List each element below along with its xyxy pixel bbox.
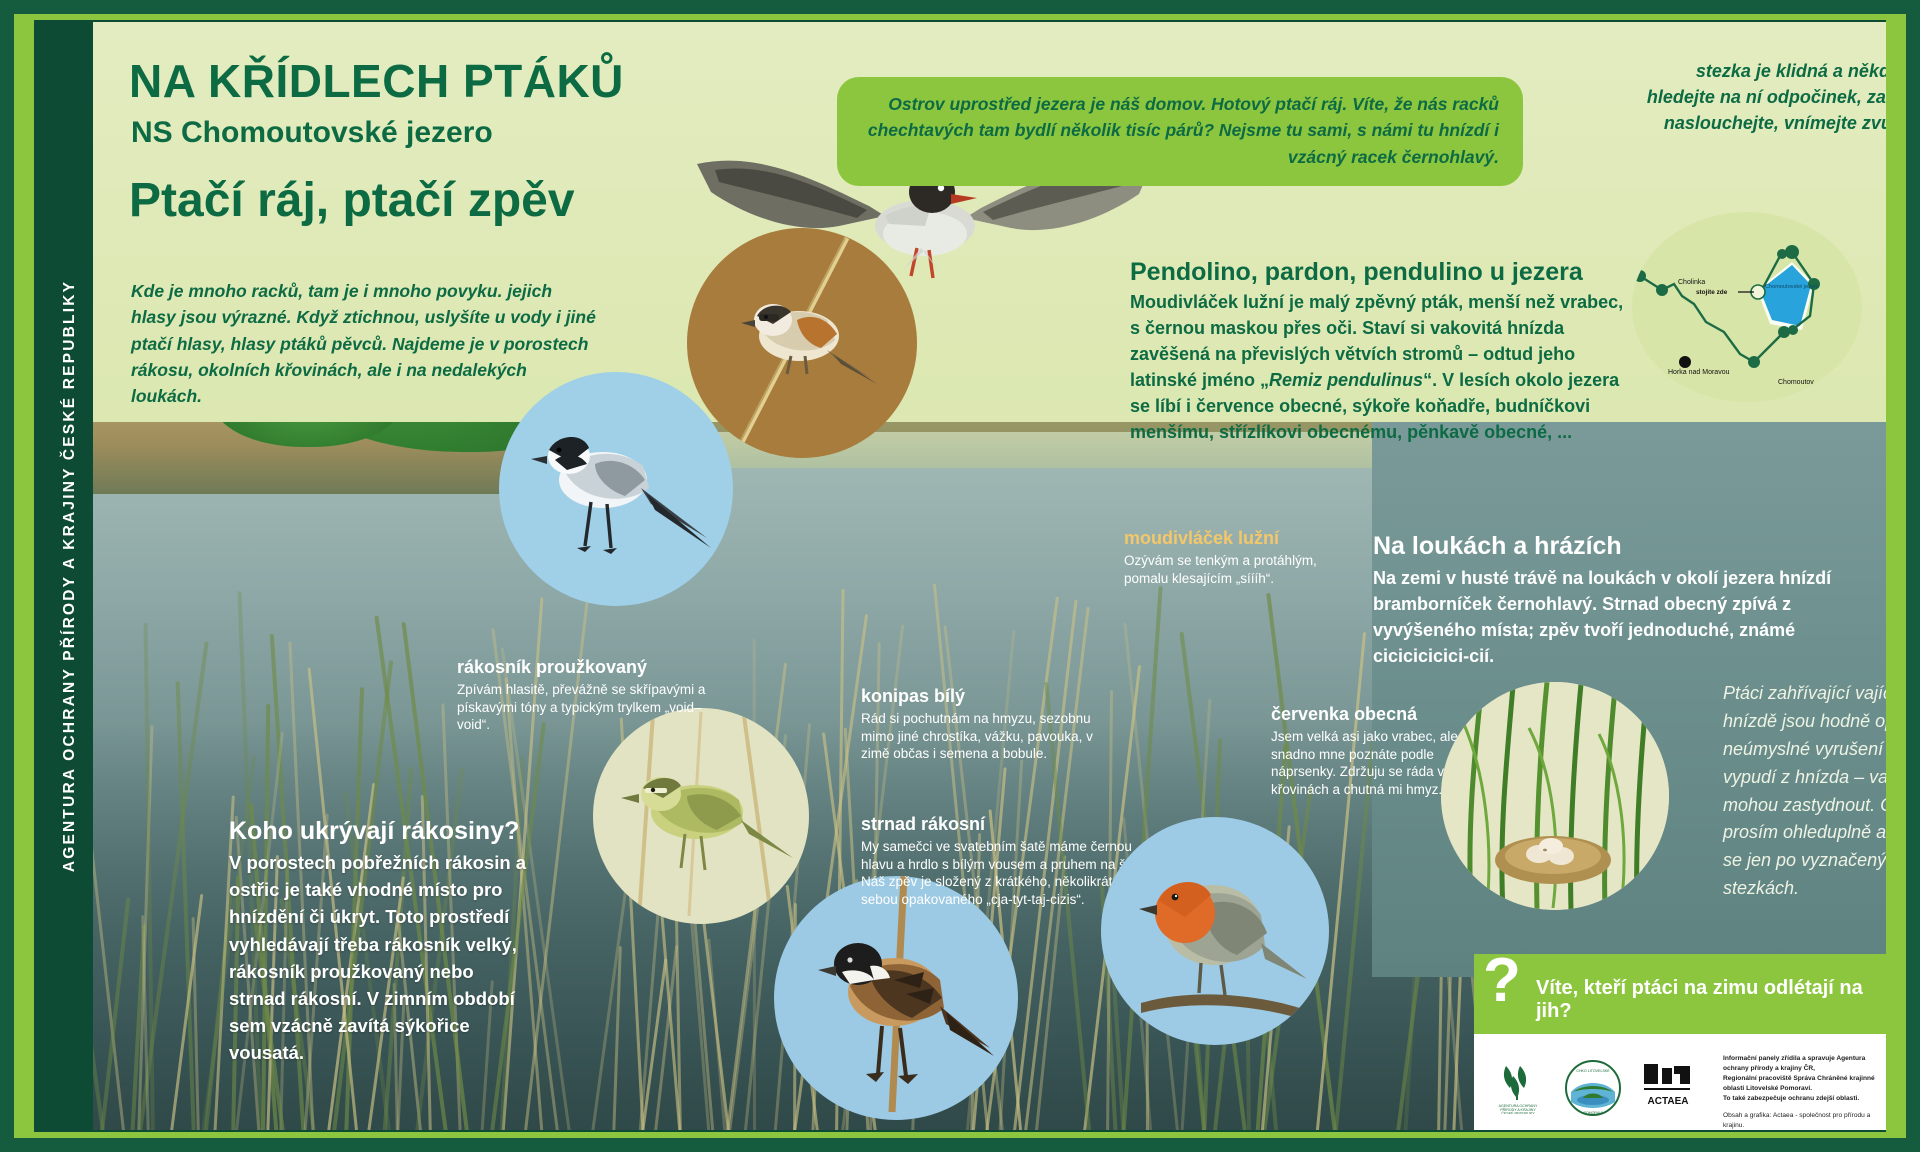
bird-caption-rakosnik-prouzkovany: rákosník proužkovaný Zpívám hlasitě, pře… xyxy=(457,656,707,734)
footer-credits: Informační panely zřídila a spravuje Age… xyxy=(1723,1054,1879,1130)
actaea-logo: ACTAEA xyxy=(1640,1060,1698,1116)
bird-photo-strnad-rakosni xyxy=(774,876,1018,1120)
bird-text-konipas-bily: Rád si pochutnám na hmyzu, sezobnu mimo … xyxy=(861,710,1111,763)
meadows-body: Na zemi v husté trávě na loukách v okolí… xyxy=(1373,565,1873,669)
trail-map: Cholinka Horka nad Moravou Chomoutov Cho… xyxy=(1632,212,1862,402)
nest-photo xyxy=(1441,682,1669,910)
bird-caption-konipas-bily: konipas bílý Rád si pochutnám na hmyzu, … xyxy=(861,685,1111,763)
section-title-bird-paradise: Ptačí ráj, ptačí zpěv xyxy=(129,177,575,225)
care-note-text: Ptáci zahřívající vajíčka na hnízdě jsou… xyxy=(1723,680,1886,903)
bird-text-rakosnik-prouzkovany: Zpívám hlasitě, převážně se skřípavými a… xyxy=(457,681,707,734)
bird-name-strnad-rakosni: strnad rákosní xyxy=(861,813,1161,836)
trail-map-circle: Cholinka Horka nad Moravou Chomoutov Cho… xyxy=(1632,212,1862,402)
svg-text:stojíte zde: stojíte zde xyxy=(1696,289,1728,296)
question-mark-icon: ? xyxy=(1483,950,1521,1012)
bird-photo-rakosnik-prouzkovany xyxy=(593,708,809,924)
section-title-pendolino: Pendolino, pardon, pendulino u jezera xyxy=(1130,258,1583,287)
bird-photo-cervenka-obecna xyxy=(1101,817,1329,1045)
map-label-lake: Chomoutovské jezero xyxy=(1765,284,1819,290)
information-panel: AGENTURA OCHRANY PŘÍRODY A KRAJINY ČESKÉ… xyxy=(0,0,1920,1152)
bird-name-moudivlacek-luzni: moudivláček lužní xyxy=(1124,527,1354,550)
svg-text:ČESKÉ REPUBLIKY: ČESKÉ REPUBLIKY xyxy=(1501,1111,1535,1114)
page-title: NA KŘÍDLECH PTÁKŮ xyxy=(129,58,624,104)
cervenka-illustration xyxy=(1101,817,1329,1045)
nest-illustration xyxy=(1441,682,1669,910)
bird-text-moudivlacek-luzni: Ozývám se tenkým a protáhlým, pomalu kle… xyxy=(1124,552,1354,587)
bird-photo-konipas-bily xyxy=(499,372,733,606)
agency-vertical-strip: AGENTURA OCHRANY PŘÍRODY A KRAJINY ČESKÉ… xyxy=(47,22,93,1130)
bird-photo-moudivlacek-luzni xyxy=(687,228,917,458)
rakosnik-illustration xyxy=(593,708,809,924)
konipas-illustration xyxy=(499,372,733,606)
credits-line-2: Regionální pracoviště Správa Chráněné kr… xyxy=(1723,1074,1879,1094)
map-label-chomoutov: Chomoutov xyxy=(1778,379,1814,386)
trail-map-svg: Cholinka Horka nad Moravou Chomoutov Cho… xyxy=(1632,212,1862,402)
map-label-horka: Horka nad Moravou xyxy=(1668,369,1730,376)
panel-canvas: NA KŘÍDLECH PTÁKŮ NS Chomoutovské jezero… xyxy=(93,22,1886,1130)
moudivlacek-illustration xyxy=(687,228,917,458)
trail-note-text: stezka je klidná a někdy tajemná, hledej… xyxy=(1633,58,1886,162)
bird-caption-moudivlacek-luzni: moudivláček lužní Ozývám se tenkým a pro… xyxy=(1124,527,1354,587)
svg-text:CHKO LITOVELSKÉ: CHKO LITOVELSKÉ xyxy=(1576,1068,1610,1073)
aopk-logo: AGENTURA OCHRANY PŘÍRODY A KRAJINY ČESKÉ… xyxy=(1490,1062,1546,1114)
chko-litovelske-pomoravi-logo: CHKO LITOVELSKÉ POMORAVÍ xyxy=(1563,1058,1623,1118)
agency-vertical-text: AGENTURA OCHRANY PŘÍRODY A KRAJINY ČESKÉ… xyxy=(61,280,79,872)
reeds-body: V porostech pobřežních rákosin a ostřic … xyxy=(229,849,529,1067)
credits-line-1: Informační panely zřídila a spravuje Age… xyxy=(1723,1054,1879,1074)
strnad-illustration xyxy=(774,876,1018,1120)
credits-line-4: Obsah a grafika: Actaea - společnost pro… xyxy=(1723,1111,1879,1130)
gull-speech-bubble: Ostrov uprostřed jezera je náš domov. Ho… xyxy=(837,77,1523,186)
page-subtitle: NS Chomoutovské jezero xyxy=(131,118,493,148)
section-title-meadows: Na loukách a hrázích xyxy=(1373,532,1873,561)
svg-text:POMORAVÍ: POMORAVÍ xyxy=(1583,1111,1602,1115)
pendolino-latin-name: Remiz pendulinus xyxy=(1269,370,1423,390)
bird-name-rakosnik-prouzkovany: rákosník proužkovaný xyxy=(457,656,707,679)
intro-paragraph: Kde je mnoho racků, tam je i mnoho povyk… xyxy=(131,278,601,409)
svg-text:ACTAEA: ACTAEA xyxy=(1648,1096,1689,1107)
question-text: Víte, kteří ptáci na zimu odlétají na ji… xyxy=(1536,977,1886,1023)
bird-name-konipas-bily: konipas bílý xyxy=(861,685,1111,708)
credits-gap xyxy=(1723,1104,1879,1111)
credits-line-3: To také zabezpečuje ochranu zdejší oblas… xyxy=(1723,1094,1879,1104)
pendolino-body: Moudivláček lužní je malý zpěvný pták, m… xyxy=(1130,290,1630,445)
map-label-cholinka: Cholinka xyxy=(1678,279,1705,286)
section-title-reeds: Koho ukrývají rákosiny? xyxy=(229,817,519,846)
